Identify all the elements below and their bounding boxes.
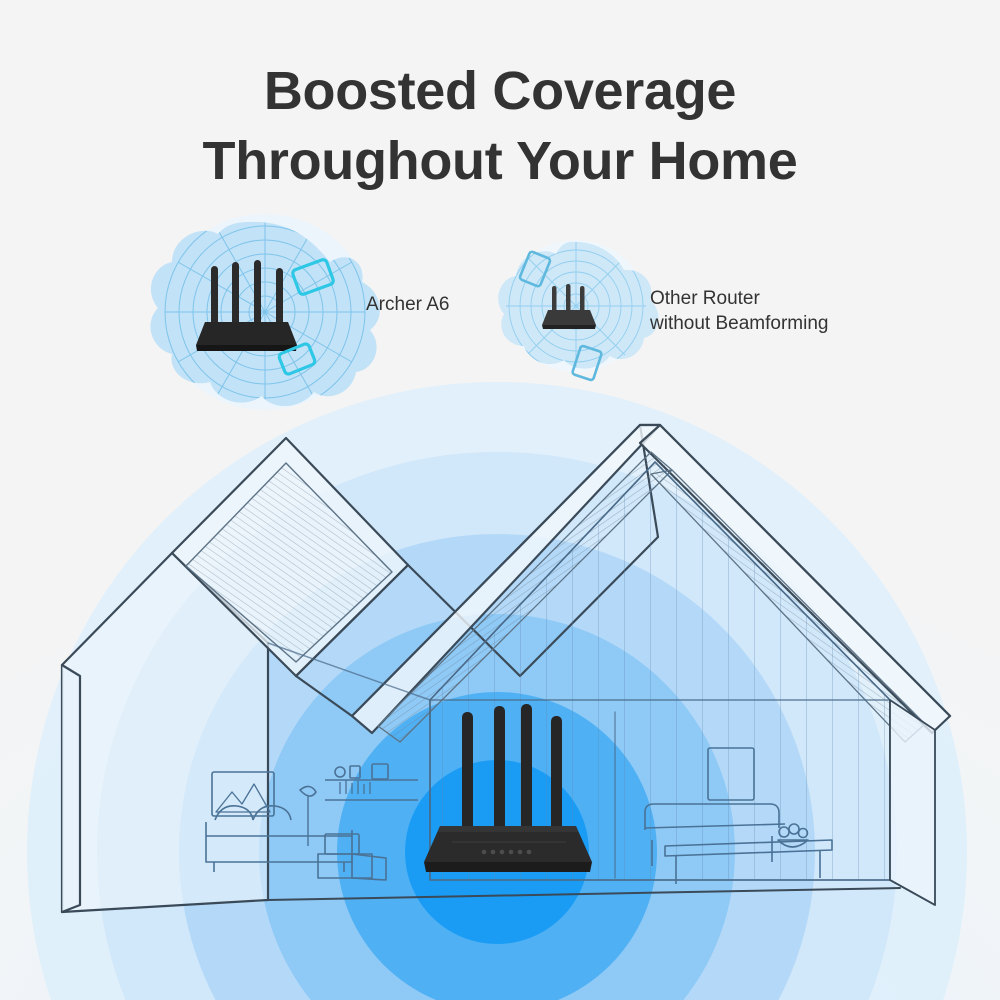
marketing-banner: Boosted Coverage Throughout Your Home Ar…	[0, 0, 1000, 1000]
other-router-label: Other Router without Beamforming	[650, 286, 828, 336]
page-title: Boosted Coverage Throughout Your Home	[0, 56, 1000, 196]
archer-a6-label: Archer A6	[366, 292, 449, 317]
